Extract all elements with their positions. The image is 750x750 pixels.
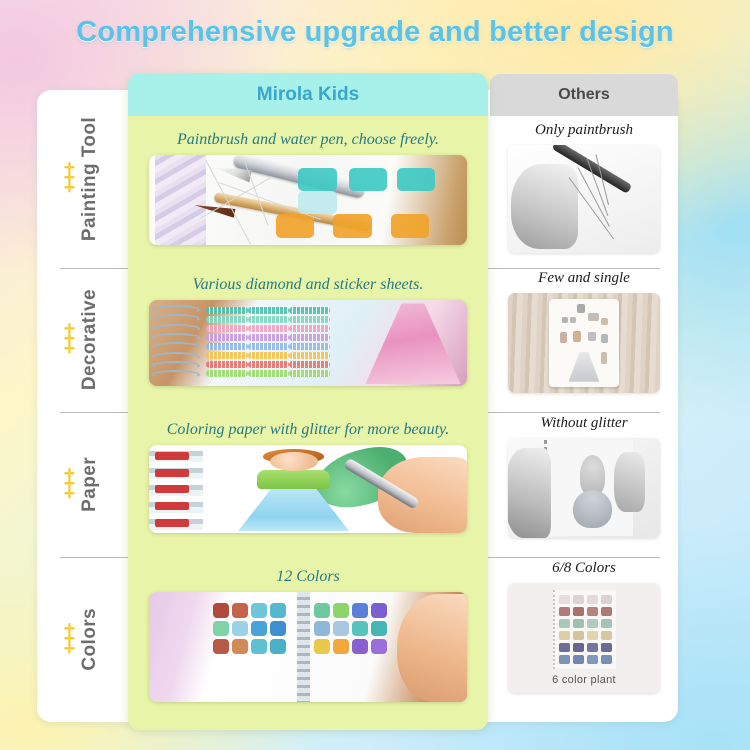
color-swatch — [352, 639, 368, 654]
gem-sticker-row — [289, 307, 330, 314]
mirola-kids-column-header: Mirola Kids — [128, 73, 488, 116]
color-swatch — [587, 643, 598, 652]
sparkle-icon-group: ✛ ✛ ✛ — [64, 163, 75, 192]
others-photo-caption: 6 color plant — [552, 674, 616, 686]
hand-shape — [614, 452, 644, 512]
mirola-cell-colors: 12 Colors — [128, 568, 488, 702]
category-cell-paper: Paper ✛ ✛ ✛ — [37, 412, 128, 557]
hand-shape — [397, 594, 467, 702]
sticker-motif — [560, 332, 567, 343]
color-swatch — [587, 631, 598, 640]
color-swatch — [232, 639, 248, 654]
color-swatch — [213, 639, 229, 654]
sparkle-icon: ✛ — [64, 344, 75, 353]
others-caption: Only paintbrush — [535, 122, 633, 139]
mirola-kids-column: Mirola Kids Paintbrush and water pen, ch… — [128, 73, 488, 730]
sticker-motif — [601, 334, 609, 343]
sparkle-icon: ✛ — [64, 183, 75, 192]
sticker-motif — [588, 313, 599, 321]
color-swatch — [573, 607, 584, 616]
sparkle-icon: ✛ — [64, 489, 75, 498]
gem-sticker-row — [206, 325, 247, 332]
sticker-motif — [573, 331, 581, 342]
others-photo-painting-tool — [508, 145, 660, 253]
spiral-binding-shape — [149, 445, 203, 533]
color-swatch — [333, 621, 349, 636]
color-swatch-grid — [553, 590, 616, 669]
gem-sticker-row — [248, 307, 289, 314]
sparkle-icon: ✛ — [64, 644, 75, 653]
color-swatch — [601, 595, 612, 604]
others-caption: Few and single — [538, 270, 630, 287]
sparkle-icon-group: ✛ ✛ ✛ — [64, 324, 75, 353]
paint-swatch — [397, 168, 435, 191]
gem-sticker-row — [289, 316, 330, 323]
color-swatch — [314, 639, 330, 654]
mirola-caption: Coloring paper with glitter for more bea… — [167, 421, 450, 439]
photo-art: 6 color plant — [508, 583, 660, 693]
sticker-card-shape — [549, 299, 619, 387]
mirola-photo-decorative — [149, 300, 467, 386]
color-swatch — [371, 621, 387, 636]
paint-swatch — [298, 168, 336, 191]
others-column: Others — [490, 74, 678, 116]
others-column-header: Others — [490, 74, 678, 116]
photo-art — [508, 145, 660, 253]
sparkle-icon-group: ✛ ✛ ✛ — [64, 624, 75, 653]
photo-art — [508, 293, 660, 393]
color-swatch — [371, 639, 387, 654]
color-swatch — [573, 595, 584, 604]
sticker-motif — [588, 332, 596, 341]
others-cell-colors: 6/8 Colors 6 color plant — [490, 560, 678, 693]
color-swatch — [232, 603, 248, 618]
color-swatch — [587, 619, 598, 628]
color-swatch — [601, 643, 612, 652]
color-swatch — [559, 619, 570, 628]
mirola-caption: Paintbrush and water pen, choose freely. — [177, 131, 439, 149]
category-cell-colors: Colors ✛ ✛ ✛ — [37, 557, 128, 722]
photo-art — [149, 300, 467, 386]
hand-shape — [508, 448, 551, 538]
color-swatch — [270, 621, 286, 636]
color-swatch — [270, 603, 286, 618]
color-swatch — [601, 619, 612, 628]
gem-sticker-row — [206, 370, 247, 377]
color-swatch — [352, 621, 368, 636]
others-photo-paper — [508, 438, 660, 538]
gem-sticker-row — [289, 352, 330, 359]
photo-art — [149, 592, 467, 702]
color-swatch — [559, 643, 570, 652]
category-cell-painting-tool: Painting Tool ✛ ✛ ✛ — [37, 90, 128, 268]
gem-sticker-row — [248, 352, 289, 359]
color-swatch — [232, 621, 248, 636]
category-cell-decorative: Decorative ✛ ✛ ✛ — [37, 268, 128, 412]
color-swatch — [213, 603, 229, 618]
others-cell-decorative: Few and single — [490, 270, 678, 393]
color-swatch — [371, 603, 387, 618]
sticker-motif — [601, 352, 607, 364]
mirola-photo-colors — [149, 592, 467, 702]
paint-swatch — [333, 214, 371, 237]
category-label-column: Painting Tool ✛ ✛ ✛ Decorative ✛ ✛ ✛ P — [37, 90, 128, 722]
princess-dress-shape — [365, 303, 460, 384]
page-title: Comprehensive upgrade and better design — [0, 16, 750, 49]
others-cell-painting-tool: Only paintbrush — [490, 122, 678, 253]
category-label-text: Painting Tool — [79, 117, 101, 241]
color-swatch — [601, 655, 612, 664]
category-label-text: Colors — [79, 608, 101, 671]
sticker-motif — [562, 317, 568, 323]
gem-sticker-row — [289, 343, 330, 350]
mirola-caption: 12 Colors — [276, 568, 340, 586]
color-swatch — [270, 639, 286, 654]
color-swatch — [333, 639, 349, 654]
mirola-photo-painting-tool — [149, 155, 467, 245]
gem-sticker-row — [248, 334, 289, 341]
gem-sticker-row — [206, 316, 247, 323]
comparison-table-card: Painting Tool ✛ ✛ ✛ Decorative ✛ ✛ ✛ P — [37, 90, 678, 722]
fairy-body-shape — [257, 470, 330, 489]
gem-sticker-row — [289, 325, 330, 332]
spiral-binding-shape — [297, 592, 310, 702]
spiral-binding-shape — [152, 305, 200, 382]
color-swatch — [251, 621, 267, 636]
paint-swatch — [349, 168, 387, 191]
others-photo-decorative — [508, 293, 660, 393]
gem-sticker-row — [248, 370, 289, 377]
gem-sticker-row — [206, 334, 247, 341]
paint-swatch — [276, 214, 314, 237]
color-swatch — [601, 607, 612, 616]
others-caption: 6/8 Colors — [552, 560, 616, 577]
fairy-head-shape — [270, 452, 318, 471]
paint-swatch — [298, 191, 336, 214]
sparkle-icon-group: ✛ ✛ ✛ — [64, 469, 75, 498]
gem-sticker-row — [289, 361, 330, 368]
glitter-skirt-shape — [573, 490, 612, 528]
color-swatch — [573, 619, 584, 628]
dress-sticker-shape — [569, 352, 600, 382]
color-swatch — [587, 607, 598, 616]
category-label-text: Decorative — [79, 289, 101, 390]
mirola-cell-paper: Coloring paper with glitter for more bea… — [128, 421, 488, 533]
color-swatch — [587, 595, 598, 604]
color-swatch — [314, 621, 330, 636]
fabric-pattern-shape — [155, 155, 206, 245]
gem-sticker-row — [248, 361, 289, 368]
color-swatch — [559, 631, 570, 640]
category-label-text: Paper — [79, 457, 101, 512]
gem-sticker-row — [206, 343, 247, 350]
photo-art — [149, 445, 467, 533]
color-swatch — [559, 595, 570, 604]
sticker-motif — [601, 318, 608, 325]
color-swatch — [559, 607, 570, 616]
mirola-caption: Various diamond and sticker sheets. — [193, 276, 424, 294]
mirola-photo-paper — [149, 445, 467, 533]
color-swatch — [314, 603, 330, 618]
color-swatch — [251, 639, 267, 654]
color-swatch — [213, 621, 229, 636]
color-swatch — [559, 655, 570, 664]
color-swatch — [573, 643, 584, 652]
mirola-cell-painting-tool: Paintbrush and water pen, choose freely. — [128, 131, 488, 245]
paint-swatch — [391, 214, 429, 237]
gem-sticker-row — [248, 316, 289, 323]
color-swatch-grid — [314, 603, 387, 654]
gem-sticker-row — [289, 370, 330, 377]
others-caption: Without glitter — [540, 415, 627, 432]
sticker-motif — [577, 304, 585, 313]
mirola-cell-decorative: Various diamond and sticker sheets. — [128, 276, 488, 386]
color-swatch — [573, 631, 584, 640]
gem-sticker-row — [206, 361, 247, 368]
color-swatch — [601, 631, 612, 640]
gem-sticker-row — [206, 352, 247, 359]
gem-sticker-row — [289, 334, 330, 341]
others-photo-colors: 6 color plant — [508, 583, 660, 693]
photo-art — [508, 438, 660, 538]
gem-sticker-row — [248, 343, 289, 350]
others-cell-paper: Without glitter — [490, 415, 678, 538]
color-swatch — [251, 603, 267, 618]
photo-art — [149, 155, 467, 245]
gem-sticker-row — [248, 325, 289, 332]
color-swatch — [352, 603, 368, 618]
color-swatch-grid — [213, 603, 286, 654]
color-swatch — [587, 655, 598, 664]
color-swatch — [333, 603, 349, 618]
sticker-motif — [570, 317, 576, 323]
color-swatch — [573, 655, 584, 664]
gem-sticker-row — [206, 307, 247, 314]
